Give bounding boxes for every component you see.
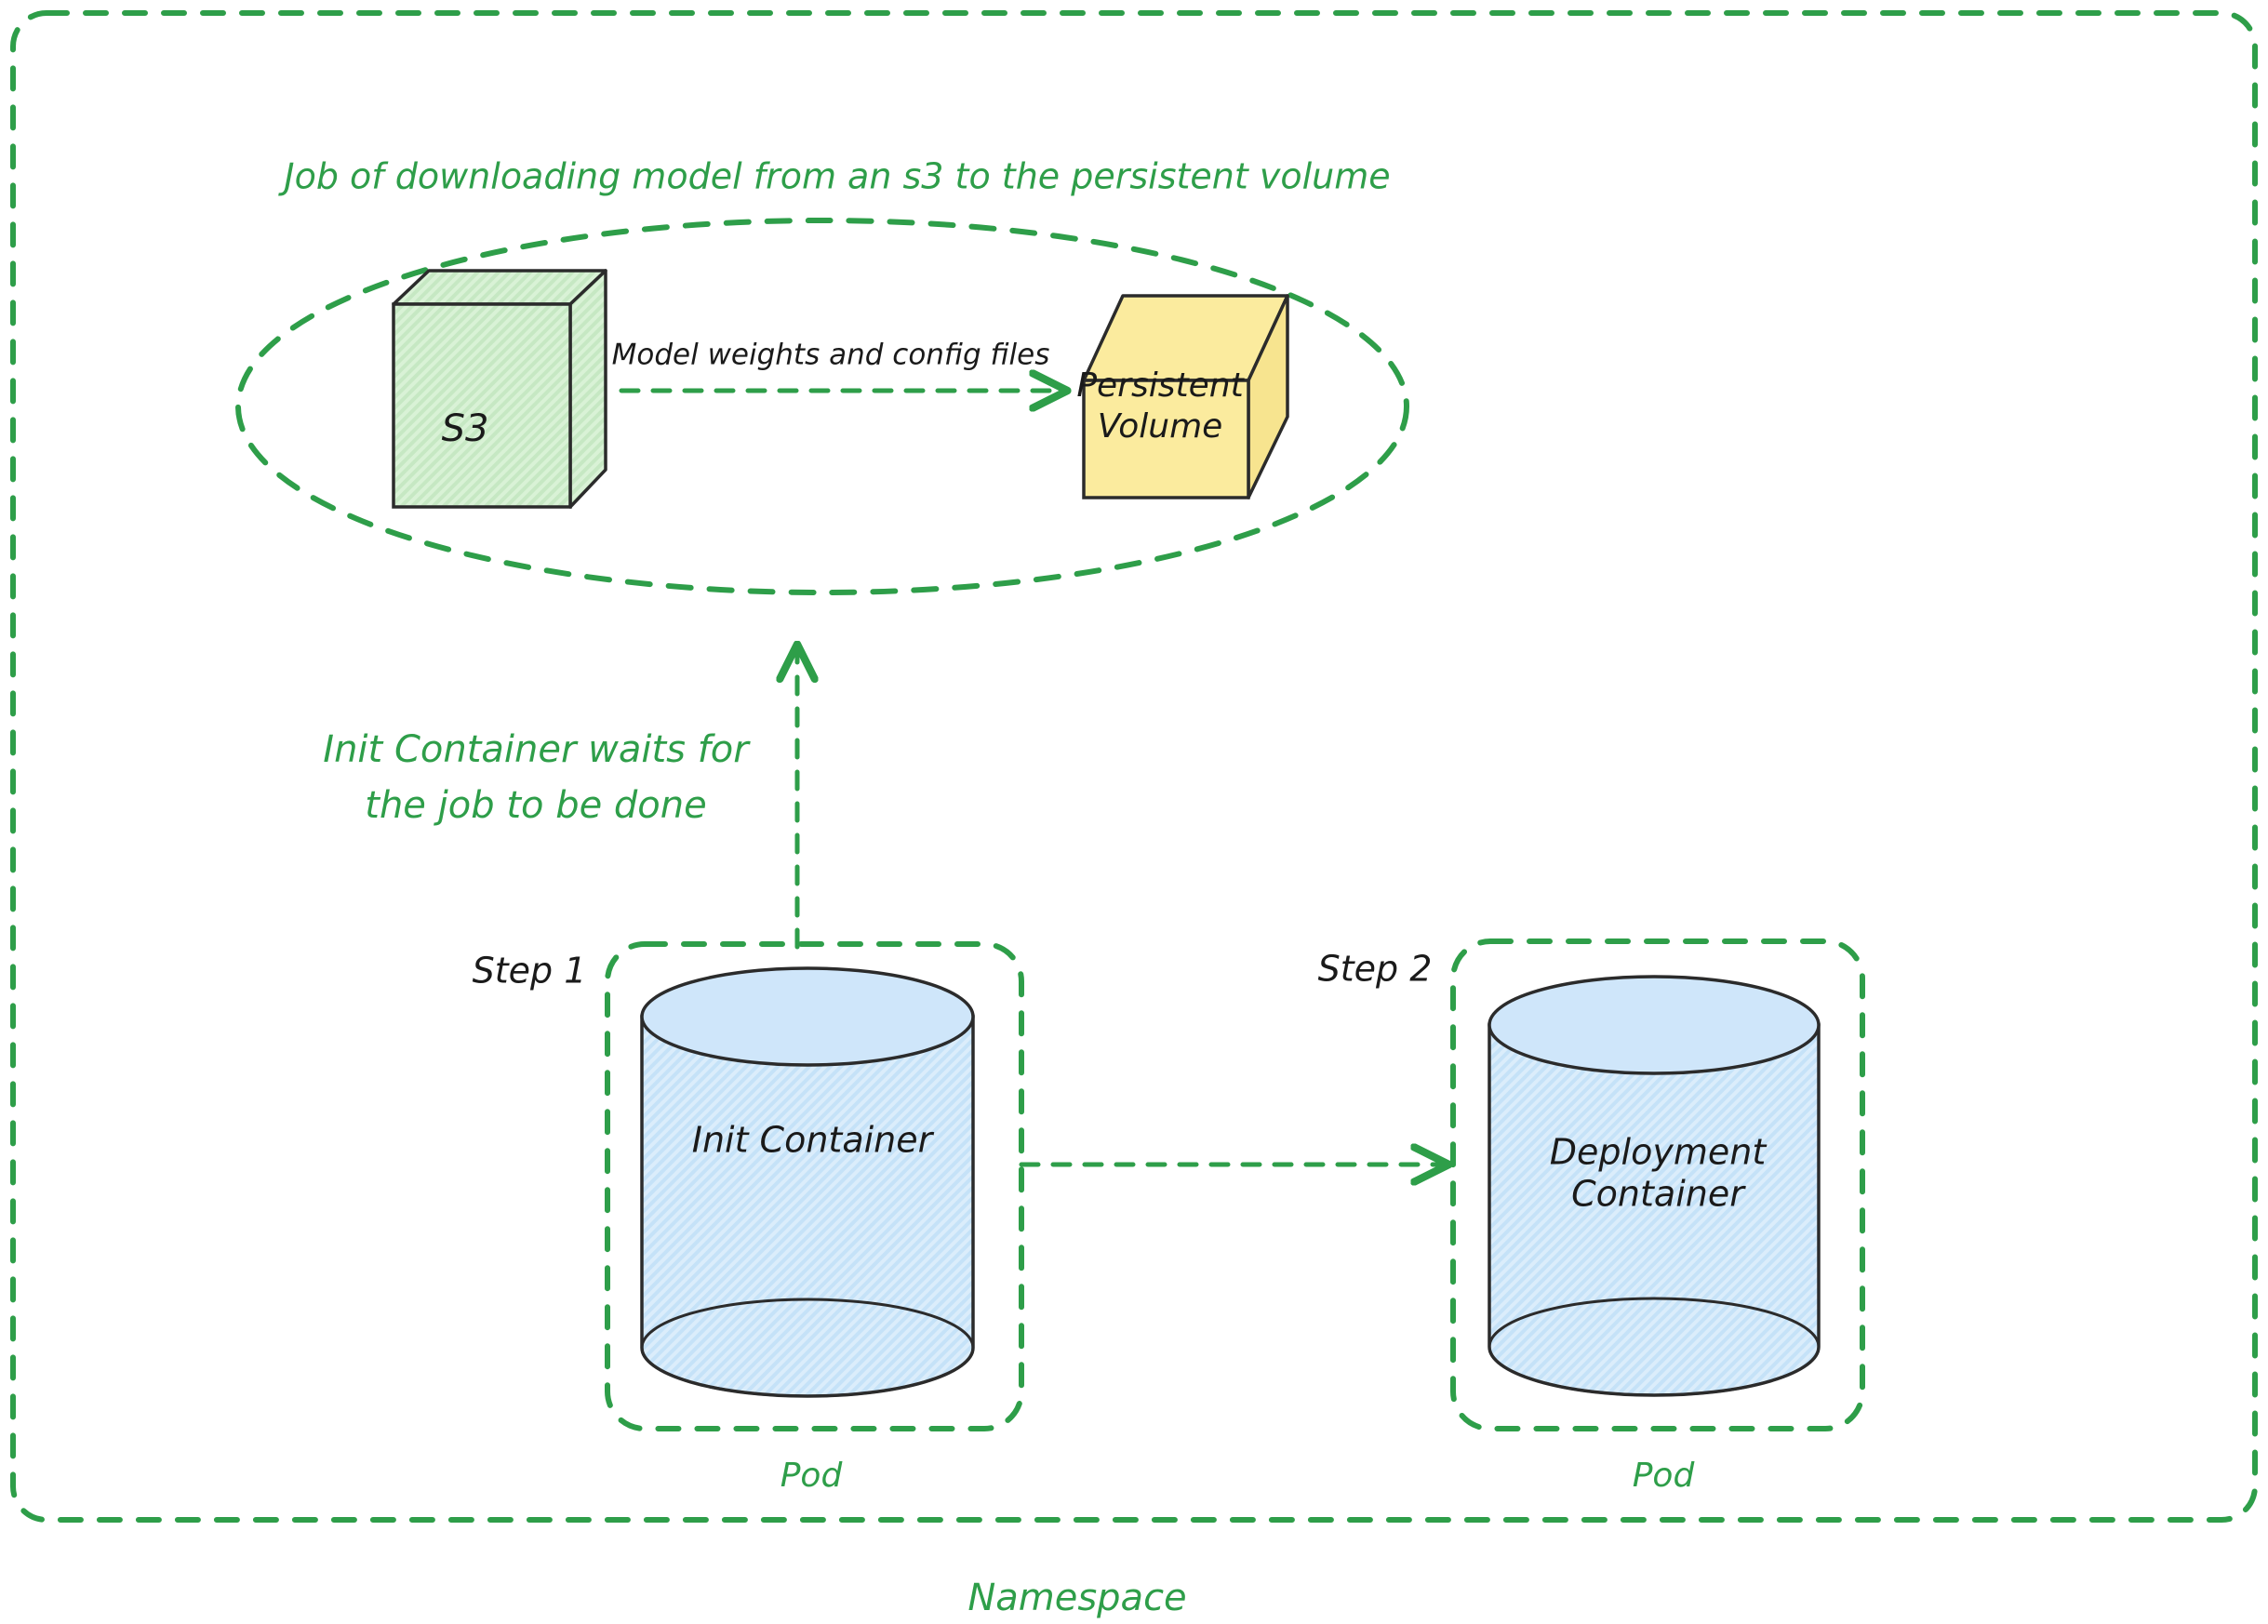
s3-cube-right-face (570, 271, 606, 507)
diagram-canvas: Namespace Job of downloading model from … (0, 0, 2268, 1624)
step-2-label: Step 2 (1318, 949, 1433, 990)
edge-init-to-job-label-line2: the job to be done (365, 784, 706, 827)
edge-init-to-job: Init Container waits for the job to be d… (323, 651, 797, 947)
deployment-container-label-line1: Deployment (1550, 1132, 1768, 1173)
s3-cube: S3 (394, 271, 606, 507)
edge-s3-to-persistent-volume: Model weights and config files (612, 339, 1061, 392)
init-container-label: Init Container (692, 1120, 935, 1161)
s3-label: S3 (442, 407, 489, 450)
edge-init-to-job-label-line1: Init Container waits for (323, 728, 751, 771)
init-container-cylinder-body (642, 1017, 973, 1396)
s3-cube-front-face (394, 304, 570, 507)
deployment-container-cylinder-top (1489, 977, 1819, 1073)
pod-init-container: Step 1 Init Container Pod (473, 944, 1021, 1495)
edge-s3-to-pv-label: Model weights and config files (612, 339, 1050, 372)
pod-2-label: Pod (1633, 1457, 1696, 1495)
persistent-volume-label-line1: Persistent (1076, 366, 1245, 405)
persistent-volume-cube: Persistent Volume (1076, 296, 1287, 498)
kubernetes-architecture-diagram: Namespace Job of downloading model from … (0, 0, 2268, 1624)
pod-1-label: Pod (780, 1457, 844, 1495)
namespace-label: Namespace (967, 1577, 1186, 1619)
job-title-label: Job of downloading model from an s3 to t… (277, 156, 1390, 197)
step-1-label: Step 1 (473, 951, 587, 992)
pod-deployment-container: Step 2 Deployment Container Pod (1318, 941, 1862, 1495)
persistent-volume-label-line2: Volume (1098, 407, 1223, 446)
init-container-cylinder-top (642, 968, 973, 1065)
deployment-container-label-line2: Container (1571, 1174, 1746, 1215)
